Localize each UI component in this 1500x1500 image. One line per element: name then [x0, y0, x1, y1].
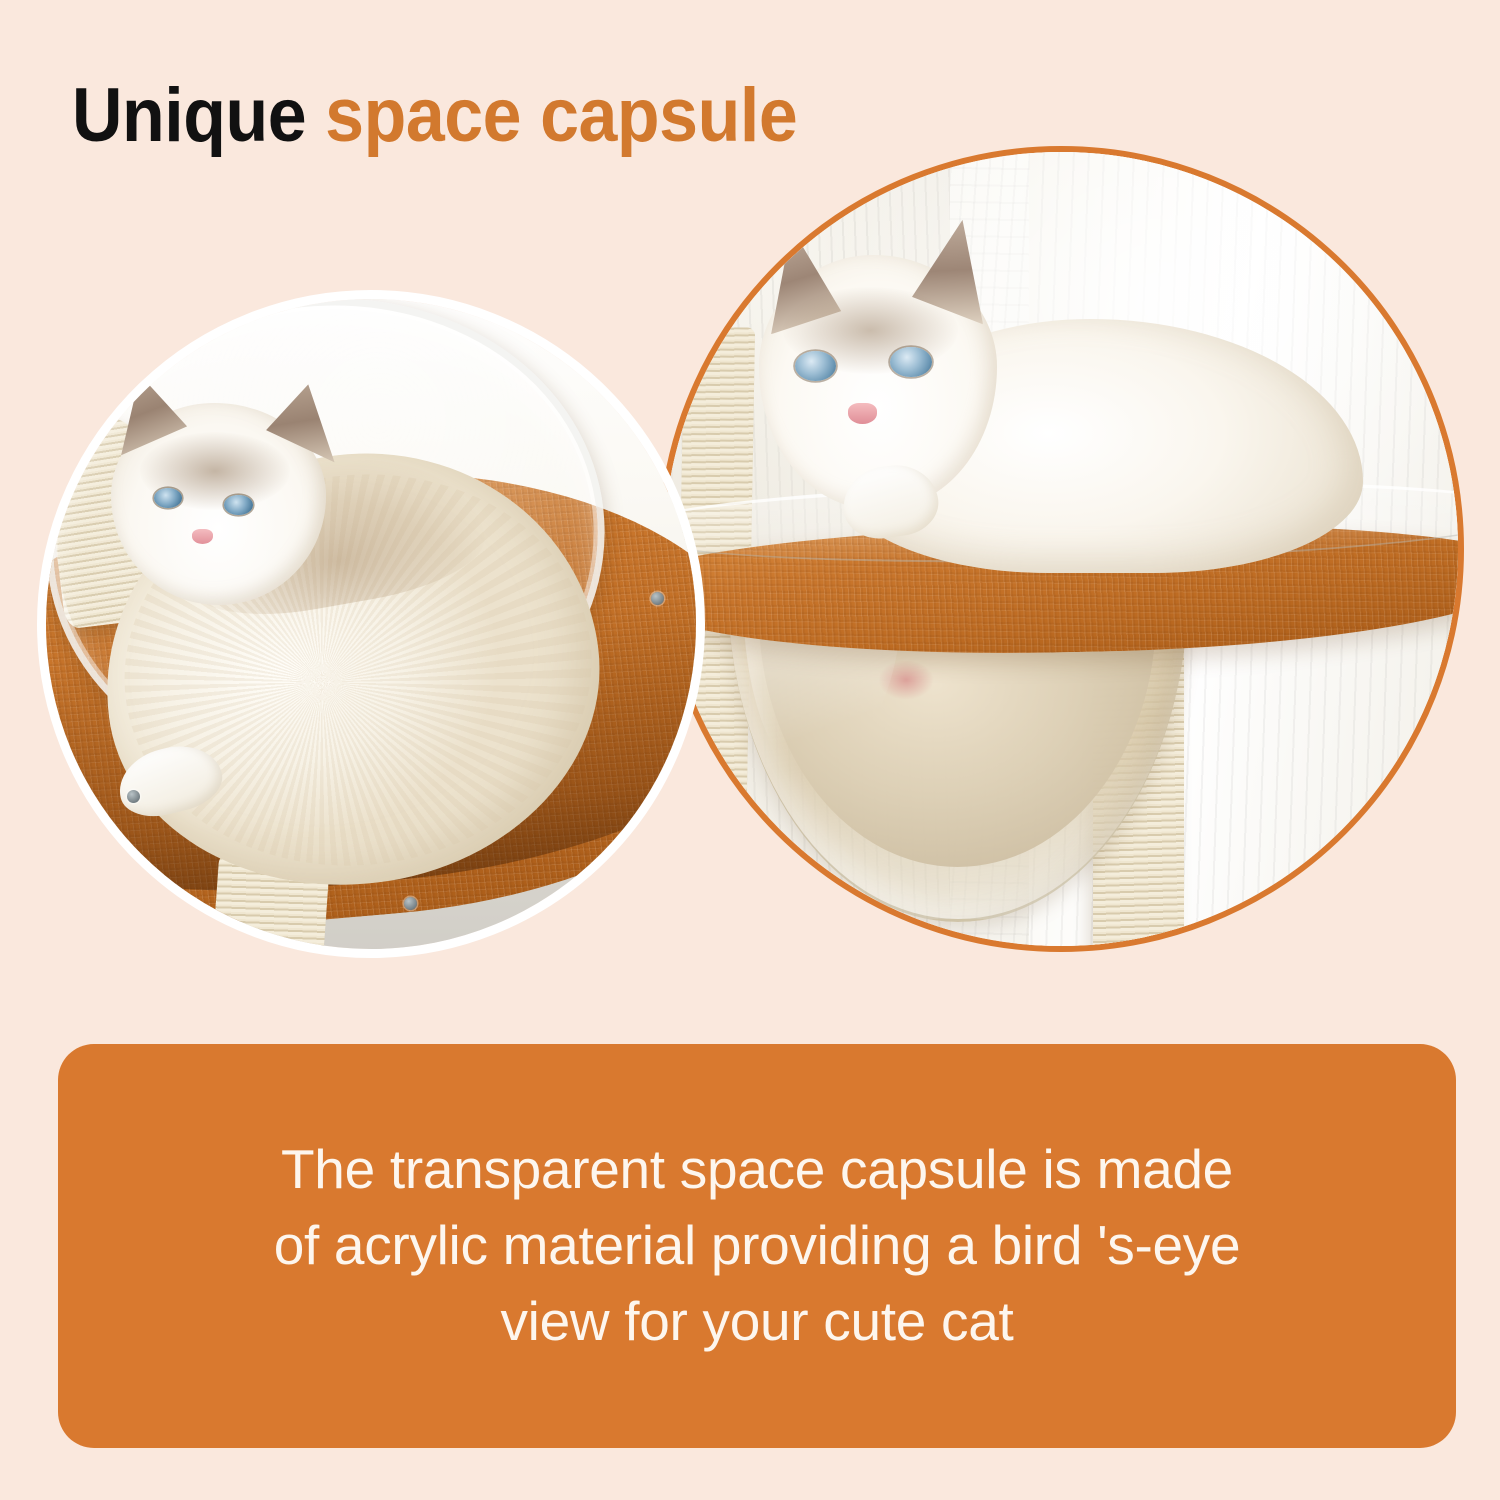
cat-eye-left	[795, 351, 836, 381]
product-photo-top-view	[37, 290, 705, 958]
page-title-primary: Unique	[72, 73, 306, 158]
page-title-accent: space capsule	[325, 73, 797, 158]
mounting-screw	[127, 790, 140, 803]
cat-eye-right	[890, 347, 931, 377]
caption-line-1: The transparent space capsule is made	[274, 1132, 1241, 1208]
photo-scene-right	[664, 152, 1458, 946]
cat-nose	[192, 529, 213, 544]
caption-line-2: of acrylic material providing a bird 's-…	[274, 1208, 1241, 1284]
cat-nose	[848, 403, 877, 424]
photo-scene-left	[46, 299, 696, 949]
page-title: Unique space capsule	[72, 78, 797, 154]
caption-line-3: view for your cute cat	[274, 1284, 1241, 1360]
mounting-screw	[651, 592, 664, 605]
caption-panel: The transparent space capsule is made of…	[58, 1044, 1456, 1448]
product-photo-side-view	[658, 146, 1464, 952]
cat-eye-left	[154, 488, 183, 508]
mounting-screw	[404, 897, 417, 910]
caption-text: The transparent space capsule is made of…	[204, 1132, 1311, 1360]
